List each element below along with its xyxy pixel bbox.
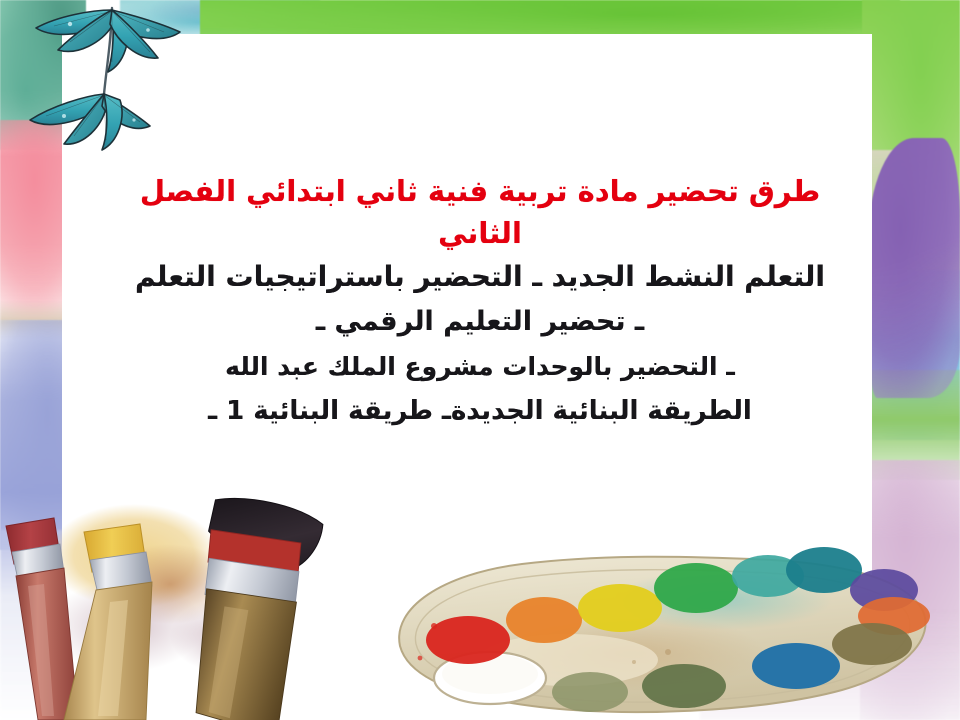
- watercolor-wash-right-pink: [860, 460, 960, 720]
- slide-body-line-3: ـ التحضير بالوحدات مشروع الملك عبد الله: [120, 344, 840, 389]
- slide-body-line-4: الطريقة البنائية الجديدةـ طريقة البنائية…: [120, 389, 840, 434]
- watercolor-wash-right-purple: [868, 138, 960, 398]
- watercolor-wash-right-green: [862, 0, 960, 300]
- slide-title-line-2: الثاني: [120, 212, 840, 254]
- slide-canvas: طرق تحضير مادة تربية فنية ثاني ابتدائي ا…: [0, 0, 960, 720]
- slide-body-line-1: التعلم النشط الجديد ـ التحضير باستراتيجي…: [120, 254, 840, 299]
- watercolor-wash-left-lower: [0, 530, 70, 720]
- watercolor-wash-right-blue: [868, 270, 960, 440]
- slide-title-line-1: طرق تحضير مادة تربية فنية ثاني ابتدائي ا…: [120, 170, 840, 212]
- slide-text-block: طرق تحضير مادة تربية فنية ثاني ابتدائي ا…: [120, 170, 840, 434]
- light-olive-paint-well: [552, 672, 628, 712]
- watercolor-wash-right-green-lower: [868, 370, 960, 480]
- watercolor-wash-top-violet: [150, 0, 260, 26]
- slide-body-line-2: ـ تحضير التعليم الرقمي ـ: [120, 299, 840, 344]
